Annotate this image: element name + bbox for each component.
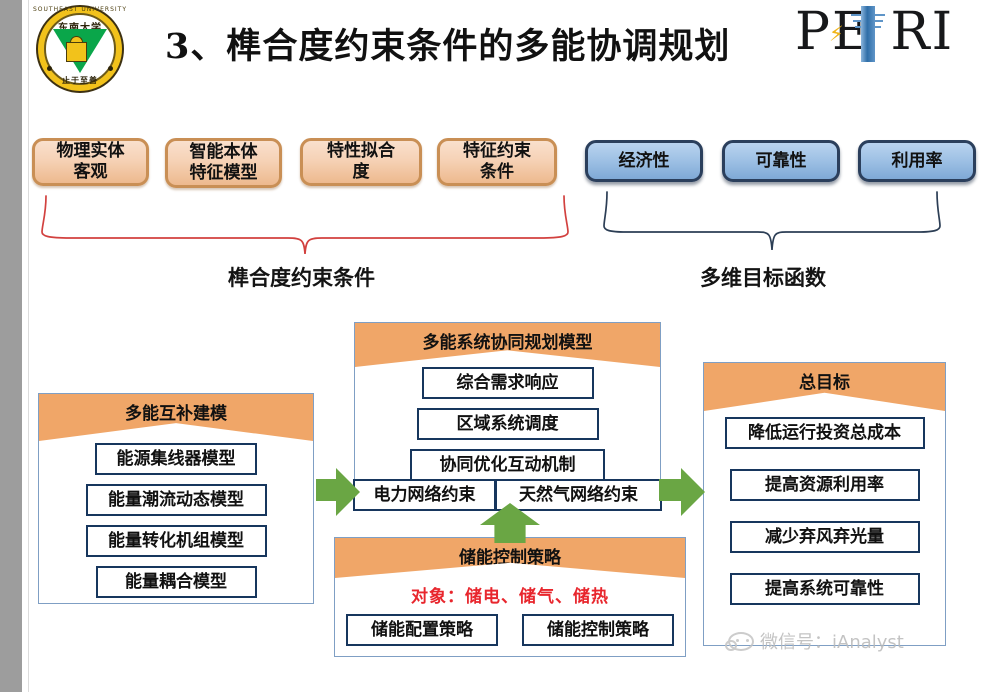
slide-canvas: SOUTHEAST UNIVERSITY 东南大学 止于至善 3、榫合度约束条件… <box>0 0 987 692</box>
chip-economy[interactable]: 经济性 <box>585 140 703 182</box>
seal-dot-right-icon <box>108 66 113 71</box>
panel-title: 多能系统协同规划模型 <box>423 328 593 353</box>
panel-body: 能源集线器模型 能量潮流动态模型 能量转化机组模型 能量耦合模型 <box>39 441 313 606</box>
panel-overall-objective: 总目标 降低运行投资总成本 提高资源利用率 减少弃风弃光量 提高系统可靠性 <box>703 362 946 646</box>
brace-right <box>602 190 942 252</box>
brace-left <box>40 194 570 256</box>
arrow-head-icon <box>681 468 705 516</box>
item-box[interactable]: 提高系统可靠性 <box>730 573 920 605</box>
panel-title: 总目标 <box>799 368 850 393</box>
page-title: 3、榫合度约束条件的多能协调规划 <box>165 18 775 69</box>
item-box[interactable]: 区域系统调度 <box>417 408 599 440</box>
transmission-tower-icon <box>861 6 875 62</box>
seal-english-arc-text: SOUTHEAST UNIVERSITY <box>33 6 127 13</box>
watermark-text: 微信号：iAnalyst <box>760 628 904 654</box>
watermark: 微信号：iAnalyst <box>728 628 904 654</box>
item-box[interactable]: 综合需求响应 <box>422 367 594 399</box>
chip-label: 特征约束条件 <box>463 141 531 183</box>
arrow-head-icon <box>336 468 360 516</box>
chip-characteristic-fit[interactable]: 特性拟合度 <box>300 138 422 186</box>
panel-title: 多能互补建模 <box>125 399 227 424</box>
item-box[interactable]: 能源集线器模型 <box>95 443 257 475</box>
item-box[interactable]: 提高资源利用率 <box>730 469 920 501</box>
item-box-power-network-constraint[interactable]: 电力网络约束 <box>353 479 496 511</box>
brace-left-label: 榫合度约束条件 <box>228 262 375 292</box>
chip-label: 经济性 <box>619 151 670 172</box>
panel-body: 对象：储电、储气、储热 储能配置策略 储能控制策略 <box>335 582 685 652</box>
arrow-shaft <box>659 479 683 501</box>
chip-label: 智能本体特征模型 <box>190 142 258 184</box>
panel-body: 综合需求响应 区域系统调度 协同优化互动机制 <box>355 367 660 493</box>
panel-header: 多能互补建模 <box>39 394 313 441</box>
seal-dot-left-icon <box>47 66 52 71</box>
brace-right-label: 多维目标函数 <box>700 262 826 292</box>
item-box[interactable]: 能量耦合模型 <box>96 566 257 598</box>
chip-feature-constraint[interactable]: 特征约束条件 <box>437 138 557 186</box>
chip-utilization[interactable]: 利用率 <box>858 140 976 182</box>
item-box[interactable]: 减少弃风弃光量 <box>730 521 920 553</box>
lightning-bolt-icon: ⚡ <box>829 28 855 41</box>
item-box[interactable]: 能量转化机组模型 <box>86 525 267 557</box>
panel-header: 多能系统协同规划模型 <box>355 323 660 367</box>
seal-building-icon <box>66 42 87 62</box>
item-box[interactable]: 能量潮流动态模型 <box>86 484 267 516</box>
panel-header: 总目标 <box>704 363 945 411</box>
item-box[interactable]: 降低运行投资总成本 <box>725 417 925 449</box>
storage-objects-note: 对象：储电、储气、储热 <box>343 582 677 607</box>
chip-label: 利用率 <box>892 151 943 172</box>
chip-intelligent-ontology[interactable]: 智能本体特征模型 <box>165 138 282 188</box>
panel-title: 储能控制策略 <box>459 543 561 568</box>
petri-logo: PE RI ⚡ <box>795 2 985 64</box>
seal-motto: 止于至善 <box>33 75 127 86</box>
chip-physical-entity[interactable]: 物理实体客观 <box>32 138 149 186</box>
southeast-university-seal-icon: SOUTHEAST UNIVERSITY 东南大学 止于至善 <box>33 2 133 96</box>
chip-label: 可靠性 <box>756 151 807 172</box>
item-box[interactable]: 协同优化互动机制 <box>410 449 605 481</box>
item-box-gas-network-constraint[interactable]: 天然气网络约束 <box>495 479 662 511</box>
arrow-shaft <box>316 479 338 501</box>
panel-complementary-modeling: 多能互补建模 能源集线器模型 能量潮流动态模型 能量转化机组模型 能量耦合模型 <box>38 393 314 604</box>
chip-label: 特性拟合度 <box>327 141 395 183</box>
item-box[interactable]: 储能控制策略 <box>522 614 674 646</box>
chip-reliability[interactable]: 可靠性 <box>722 140 840 182</box>
panel-body: 降低运行投资总成本 提高资源利用率 减少弃风弃光量 提高系统可靠性 <box>704 411 945 613</box>
panel-header: 储能控制策略 <box>335 538 685 578</box>
chat-bubble-icon <box>728 632 754 651</box>
chip-label: 物理实体客观 <box>57 141 125 183</box>
panel-energy-storage-strategy: 储能控制策略 对象：储电、储气、储热 储能配置策略 储能控制策略 <box>334 537 686 657</box>
item-box[interactable]: 储能配置策略 <box>346 614 498 646</box>
